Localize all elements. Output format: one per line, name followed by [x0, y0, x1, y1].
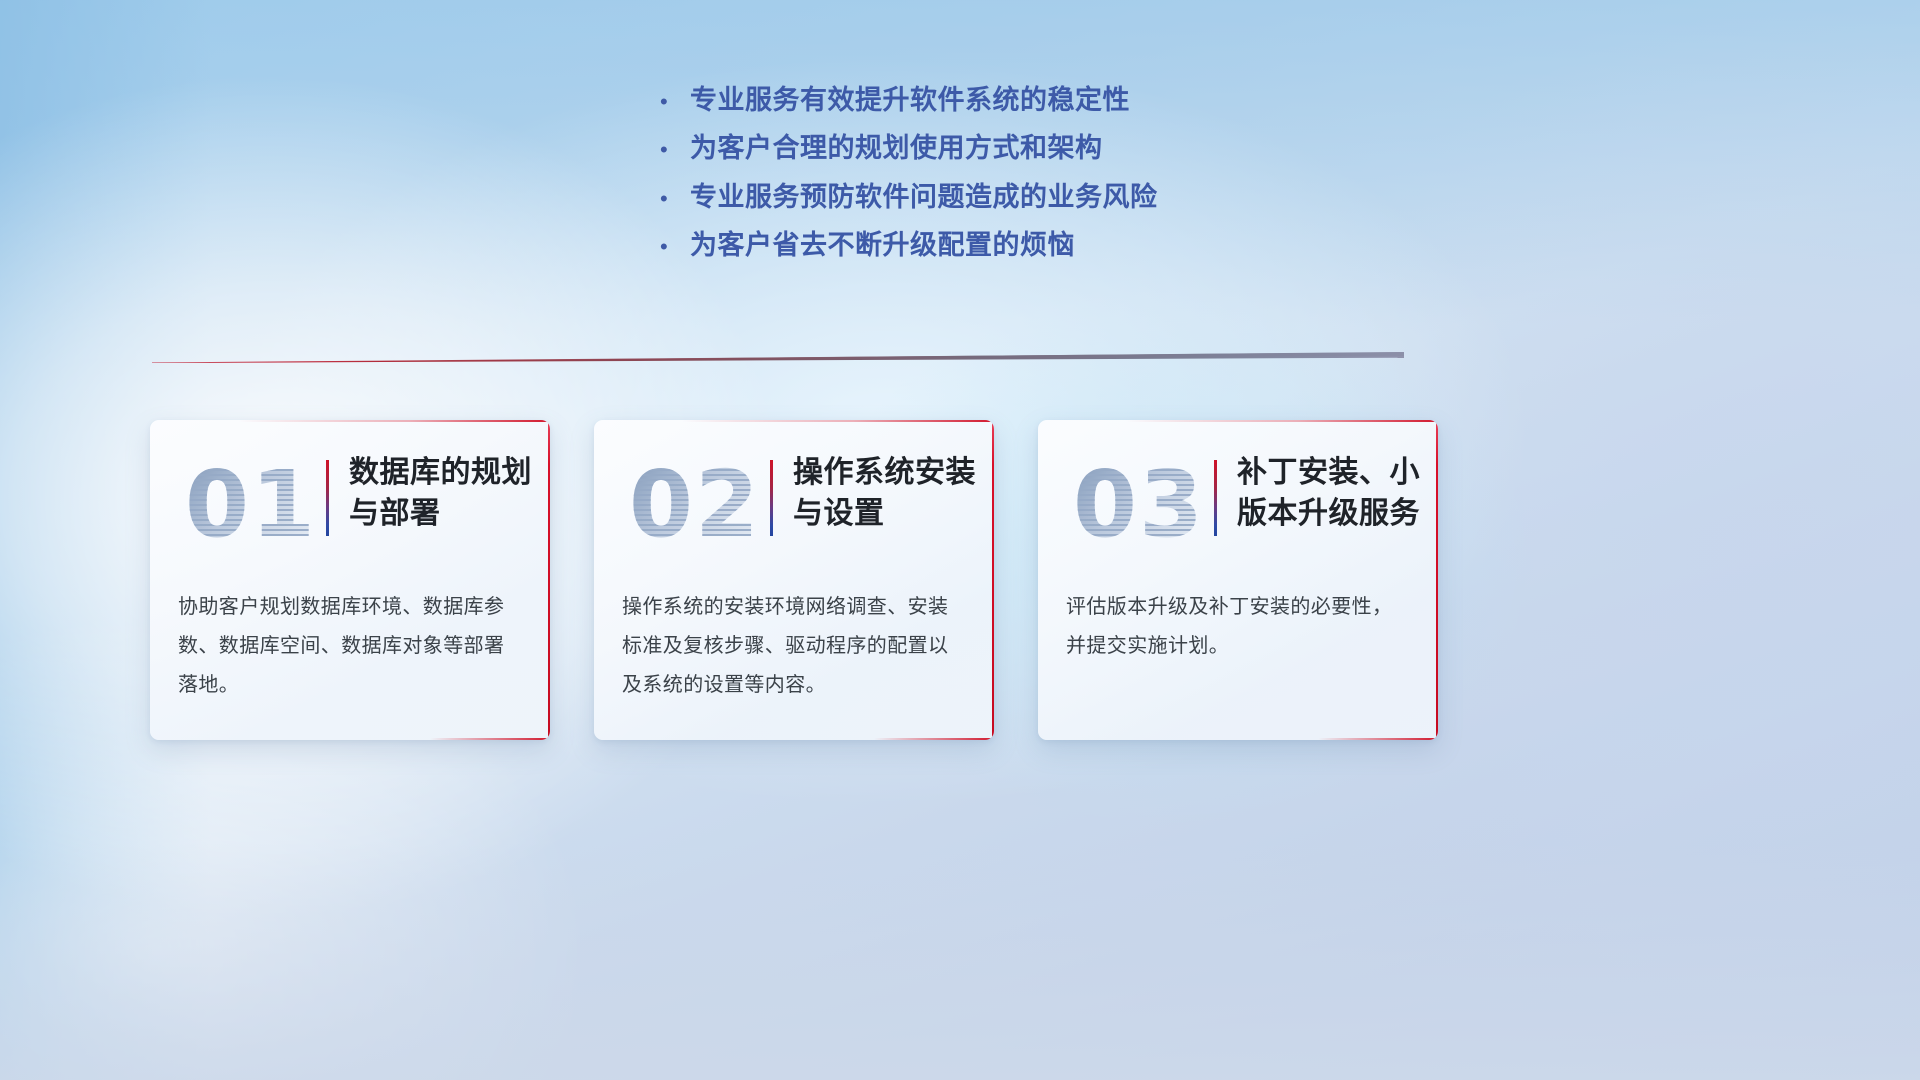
- card-title: 补丁安装、小 版本升级服务: [1237, 446, 1420, 535]
- card-body-text: 评估版本升级及补丁安装的必要性，并提交实施计划。: [1066, 588, 1410, 666]
- card-header: 02 操作系统安装 与设置: [594, 446, 994, 566]
- card-header: 03 补丁安装、小 版本升级服务: [1038, 446, 1438, 566]
- card-top-accent-border: [238, 420, 550, 422]
- card-header: 01 数据库的规划 与部署: [150, 446, 550, 566]
- card-top-accent-border: [682, 420, 994, 422]
- card-title-rule: [1214, 460, 1217, 536]
- service-card-group: 01 数据库的规划 与部署 协助客户规划数据库环境、数据库参数、数据库空间、数据…: [150, 420, 1438, 740]
- card-top-accent-border: [1126, 420, 1438, 422]
- card-title-rule: [770, 460, 773, 536]
- card-bottom-accent-border: [874, 738, 994, 740]
- bullet-text-1: 专业服务有效提升软件系统的稳定性: [690, 86, 1130, 114]
- card-title-rule: [326, 460, 329, 536]
- card-number-watermark: 01: [176, 446, 326, 564]
- bullet-marker-icon: •: [660, 236, 690, 258]
- bullet-item-1: • 专业服务有效提升软件系统的稳定性: [660, 86, 1260, 114]
- card-number-watermark: 03: [1064, 446, 1214, 564]
- bullet-marker-icon: •: [660, 188, 690, 210]
- card-bottom-accent-border: [1318, 738, 1438, 740]
- bullet-text-4: 为客户省去不断升级配置的烦恼: [690, 231, 1075, 259]
- card-body-text: 操作系统的安装环境网络调查、安装标准及复核步骤、驱动程序的配置以及系统的设置等内…: [622, 588, 966, 705]
- bullet-marker-icon: •: [660, 139, 690, 161]
- card-bottom-accent-border: [430, 738, 550, 740]
- card-number-text: 03: [1073, 459, 1205, 551]
- bullet-item-4: • 为客户省去不断升级配置的烦恼: [660, 231, 1260, 259]
- bullet-list: • 专业服务有效提升软件系统的稳定性 • 为客户合理的规划使用方式和架构 • 专…: [0, 86, 1920, 279]
- card-number-text: 02: [629, 459, 761, 551]
- section-divider: [152, 352, 1404, 364]
- bullet-marker-icon: •: [660, 91, 690, 113]
- card-number-watermark: 02: [620, 446, 770, 564]
- card-body-text: 协助客户规划数据库环境、数据库参数、数据库空间、数据库对象等部署落地。: [178, 588, 522, 705]
- service-card-03[interactable]: 03 补丁安装、小 版本升级服务 评估版本升级及补丁安装的必要性，并提交实施计划…: [1038, 420, 1438, 740]
- bullet-item-2: • 为客户合理的规划使用方式和架构: [660, 134, 1260, 162]
- bullet-text-3: 专业服务预防软件问题造成的业务风险: [690, 183, 1158, 211]
- card-number-text: 01: [185, 459, 317, 551]
- bullet-text-2: 为客户合理的规划使用方式和架构: [690, 134, 1103, 162]
- service-card-02[interactable]: 02 操作系统安装 与设置 操作系统的安装环境网络调查、安装标准及复核步骤、驱动…: [594, 420, 994, 740]
- bullet-item-3: • 专业服务预防软件问题造成的业务风险: [660, 183, 1260, 211]
- card-title: 数据库的规划 与部署: [349, 446, 532, 535]
- card-title: 操作系统安装 与设置: [793, 446, 976, 535]
- service-card-01[interactable]: 01 数据库的规划 与部署 协助客户规划数据库环境、数据库参数、数据库空间、数据…: [150, 420, 550, 740]
